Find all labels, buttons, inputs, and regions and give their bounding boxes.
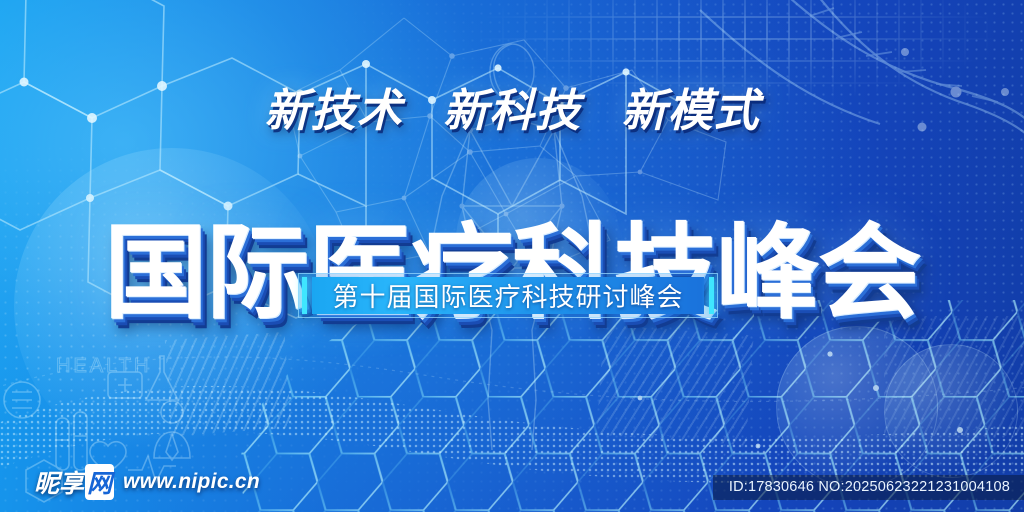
subtitle-accent-bar-right (709, 277, 714, 314)
nipic-logo: 昵享 网 (34, 464, 114, 500)
watermark-url: www.nipic.cn (123, 470, 260, 494)
poster-content: 新技术 新科技 新模式 国际医疗科技峰会 第十届国际医疗科技研讨峰会 昵享 网 … (0, 0, 1024, 512)
poster-subtitle: 第十届国际医疗科技研讨峰会 (332, 277, 683, 314)
subtitle-fill: 第十届国际医疗科技研讨峰会 (312, 277, 704, 314)
nipic-logo-boxed-char: 网 (85, 464, 114, 500)
nipic-logo-text: 昵享 (34, 464, 84, 500)
poster-tagline: 新技术 新科技 新模式 (0, 88, 1024, 133)
subtitle-banner: 第十届国际医疗科技研讨峰会 (298, 273, 718, 318)
image-id-bar: ID:17830646 NO:20250623221231004108 (713, 475, 1024, 500)
poster-banner: HEALTH 新技术 新科技 新模式 国际医疗科技峰会 第十届国际医疗科技研讨峰… (0, 0, 1024, 512)
subtitle-accent-bar-left (302, 277, 307, 314)
watermark: 昵享 网 www.nipic.cn (34, 464, 260, 500)
